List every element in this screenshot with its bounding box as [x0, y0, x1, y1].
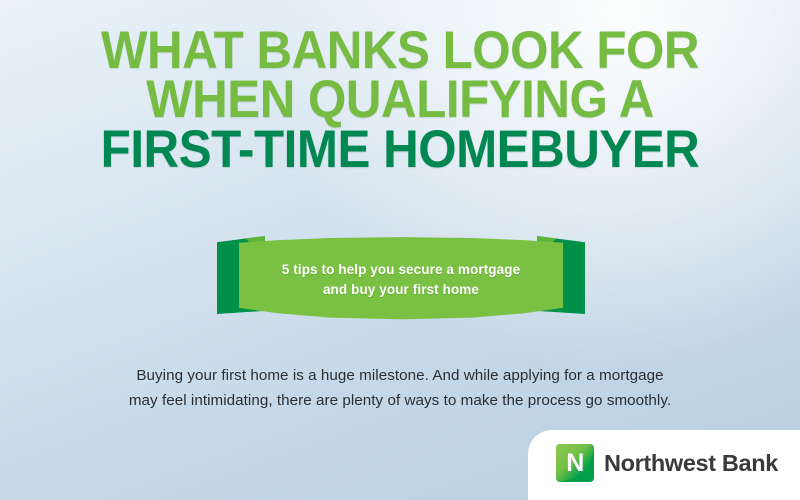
logo-wordmark: Northwest Bank: [604, 450, 778, 477]
page-title: WHAT BANKS LOOK FOR WHEN QUALIFYING A FI…: [0, 26, 800, 174]
brand-logo: N Northwest Bank: [556, 444, 778, 482]
intro-paragraph: Buying your first home is a huge milesto…: [60, 364, 740, 413]
cloud-icon: [634, 234, 800, 312]
ribbon-line-1: 5 tips to help you secure a mortgage: [282, 261, 520, 278]
headline-line-2: WHEN QUALIFYING A: [28, 75, 772, 124]
intro-line-2: may feel intimidating, there are plenty …: [60, 389, 740, 414]
headline-line-3: FIRST-TIME HOMEBUYER: [28, 125, 772, 174]
subtitle-ribbon: 5 tips to help you secure a mortgage and…: [215, 234, 587, 326]
intro-line-1: Buying your first home is a huge milesto…: [60, 364, 740, 389]
headline-line-1: WHAT BANKS LOOK FOR: [28, 26, 772, 75]
infographic-canvas: WHAT BANKS LOOK FOR WHEN QUALIFYING A FI…: [0, 0, 800, 500]
logo-letter: N: [556, 444, 594, 482]
ribbon-line-2: and buy your first home: [323, 281, 479, 298]
ribbon-text-group: 5 tips to help you secure a mortgage and…: [239, 234, 563, 322]
northwest-bank-logo-icon: N: [556, 444, 594, 482]
